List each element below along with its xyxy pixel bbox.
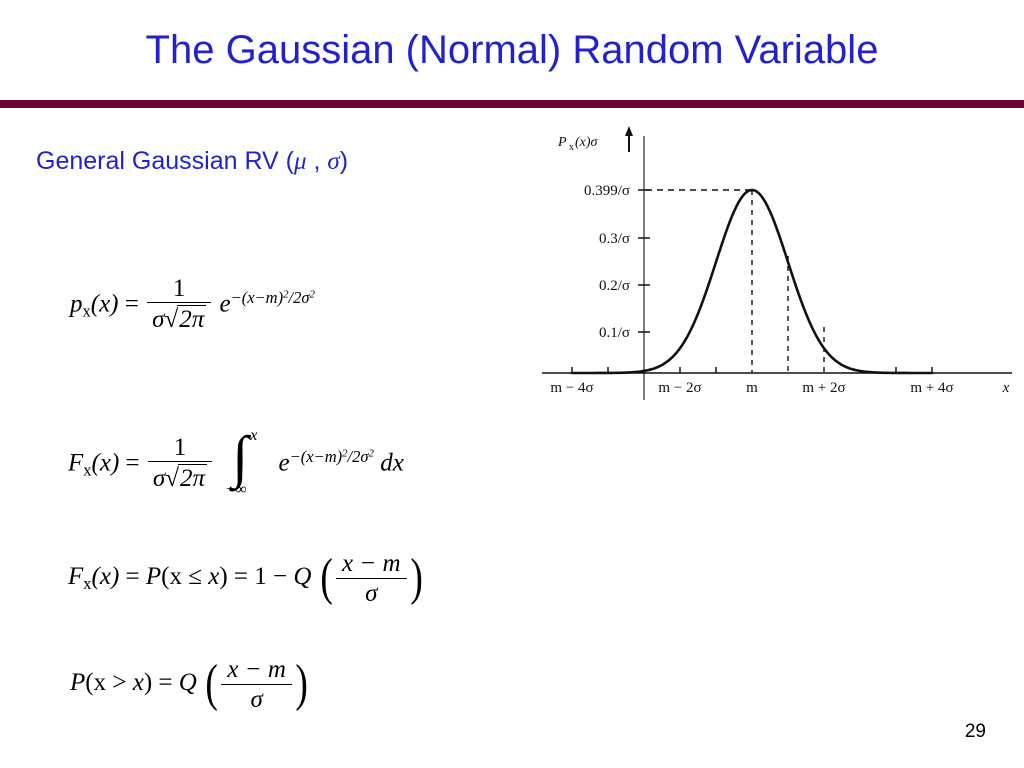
cdfq-equals-sign-2: =	[234, 563, 248, 590]
cdfq-open-paren: (	[161, 563, 169, 590]
subtitle-comma: ,	[307, 147, 328, 175]
cdfq-fraction-denominator: σ	[336, 579, 407, 606]
x-axis-label: x	[1002, 380, 1010, 396]
cdf-equals-sign: =	[126, 450, 140, 477]
cdf-differential: dx	[380, 450, 404, 477]
cdfq-argument: x	[208, 563, 219, 590]
tailq-open-paren: (	[85, 669, 93, 696]
y-axis-arrow-icon	[625, 126, 633, 152]
pdf-exponential-base: e	[219, 291, 230, 318]
cdfq-big-open-paren: (	[320, 558, 332, 599]
cdfq-big-close-paren: )	[410, 558, 422, 599]
tailq-argument: x	[133, 669, 144, 696]
pdf-lhs-symbol: p	[70, 291, 83, 318]
gaussian-pdf-figure: P x (x)σ 0.399/σ 0.3/σ 0.2/σ 0.1/σ	[528, 124, 1024, 409]
cdfq-close-paren: )	[219, 563, 227, 590]
cdfq-equals-sign-1: =	[126, 563, 140, 590]
cdfq-lhs-subscript: x	[83, 574, 91, 593]
cdf-exponent-tail-square: 2	[369, 448, 374, 460]
cdfq-q-argument-group: (x − mσ)	[318, 551, 425, 606]
cdfq-relation-symbol: ≤	[188, 563, 202, 590]
pdf-fraction: 1 σ√2π	[147, 276, 211, 332]
cdfq-one: 1	[254, 563, 267, 590]
pdf-exponent-head: −(x−m)	[231, 288, 284, 307]
y-axis-label-rest: (x)σ	[575, 135, 599, 150]
cdfq-lhs-symbol: F	[68, 563, 83, 590]
y-axis-label-subscript: x	[569, 142, 574, 153]
cdf-lhs-symbol: F	[68, 450, 83, 477]
cdfq-lhs-argument: (x)	[92, 563, 120, 590]
pdf-exponent: −(x−m)2/2σ2	[231, 288, 315, 307]
pdf-lhs-subscript: x	[83, 301, 91, 320]
cdfq-q-function: Q	[293, 563, 311, 590]
tailq-relation-symbol: >	[112, 669, 126, 696]
page-title: The Gaussian (Normal) Random Variable	[0, 26, 1024, 74]
formula-cdf-q: Fx(x) = P(x ≤ x) = 1 − Q (x − mσ)	[68, 551, 425, 606]
integral-upper-limit: x	[250, 428, 257, 444]
y-tick-label-1: 0.3/σ	[599, 231, 630, 247]
pdf-denominator-sigma: σ	[152, 306, 164, 333]
tailq-q-function: Q	[179, 669, 197, 696]
tailq-fraction-numerator: x − m	[221, 657, 292, 685]
y-tick-label-2: 0.2/σ	[599, 278, 630, 294]
formula-tail-q: P(x > x) = Q (x − mσ)	[70, 657, 310, 712]
cdf-fraction: 1 σ√2π	[148, 435, 212, 491]
tailq-equals-sign: =	[158, 669, 172, 696]
integral-lower-limit: −∞	[226, 482, 246, 498]
formula-cdf-integral: Fx(x) = 1 σ√2π ∫ x −∞ e−(x−m)2/2σ2 dx	[68, 436, 404, 494]
tailq-big-open-paren: (	[206, 664, 218, 705]
cdf-fraction-denominator: σ√2π	[148, 462, 212, 491]
cdfq-random-variable: x	[170, 563, 183, 590]
integral-sign: ∫	[232, 428, 248, 486]
x-tick-label-2: m	[746, 380, 758, 396]
cdf-lhs-subscript: x	[83, 460, 91, 479]
cdfq-fraction-numerator: x − m	[336, 551, 407, 579]
sigma-symbol: σ	[327, 148, 339, 175]
pdf-fraction-numerator: 1	[147, 276, 211, 303]
tailq-q-argument-group: (x − mσ)	[203, 657, 310, 712]
cdfq-minus-sign: −	[273, 563, 287, 590]
cdf-denominator-sigma: σ	[153, 465, 165, 492]
cdfq-standardized-fraction: x − mσ	[336, 551, 407, 606]
tailq-probability-symbol: P	[70, 669, 85, 696]
pdf-exponent-tail: /2σ	[289, 288, 310, 307]
title-divider-rule	[0, 100, 1024, 108]
cdf-exponent-head: −(x−m)	[290, 447, 343, 466]
mu-symbol: μ	[294, 148, 307, 175]
section-heading: General Gaussian RV (μ , σ)	[36, 147, 348, 176]
x-tick-label-0: m − 4σ	[550, 380, 593, 396]
section-heading-text: General Gaussian RV (	[36, 147, 294, 175]
formula-pdf: px(x) = 1 σ√2π e−(x−m)2/2σ2	[70, 278, 315, 334]
y-axis-label-p: P	[557, 135, 567, 150]
cdf-exponent: −(x−m)2/2σ2	[290, 447, 374, 466]
cdf-fraction-numerator: 1	[148, 435, 212, 462]
subtitle-close-paren: )	[340, 147, 348, 175]
x-tick-label-1: m − 2σ	[658, 380, 701, 396]
pdf-radical-sign: √	[164, 306, 178, 333]
pdf-fraction-denominator: σ√2π	[147, 303, 211, 332]
slide-page-number: 29	[965, 721, 986, 743]
cdf-lhs-argument: (x)	[92, 450, 120, 477]
y-tick-label-0: 0.399/σ	[584, 183, 630, 199]
tailq-close-paren: )	[144, 669, 152, 696]
tailq-standardized-fraction: x − mσ	[221, 657, 292, 712]
pdf-lhs-argument: (x)	[91, 291, 119, 318]
pdf-exponent-tail-square: 2	[310, 289, 315, 301]
cdf-exponential-base: e	[279, 450, 290, 477]
y-tick-label-3: 0.1/σ	[599, 325, 630, 341]
x-tick-label-4: m + 4σ	[910, 380, 953, 396]
x-tick-label-3: m + 2σ	[802, 380, 845, 396]
integral-operator: ∫ x −∞	[224, 436, 270, 494]
cdf-radicand: 2π	[178, 464, 207, 491]
pdf-radicand: 2π	[177, 305, 206, 332]
tailq-random-variable: x	[94, 669, 107, 696]
pdf-equals-sign: =	[125, 291, 139, 318]
cdf-radical-sign: √	[165, 465, 179, 492]
tailq-big-close-paren: )	[295, 664, 307, 705]
cdf-exponent-tail: /2σ	[348, 447, 369, 466]
cdfq-probability-symbol: P	[146, 563, 161, 590]
tailq-fraction-denominator: σ	[221, 685, 292, 712]
